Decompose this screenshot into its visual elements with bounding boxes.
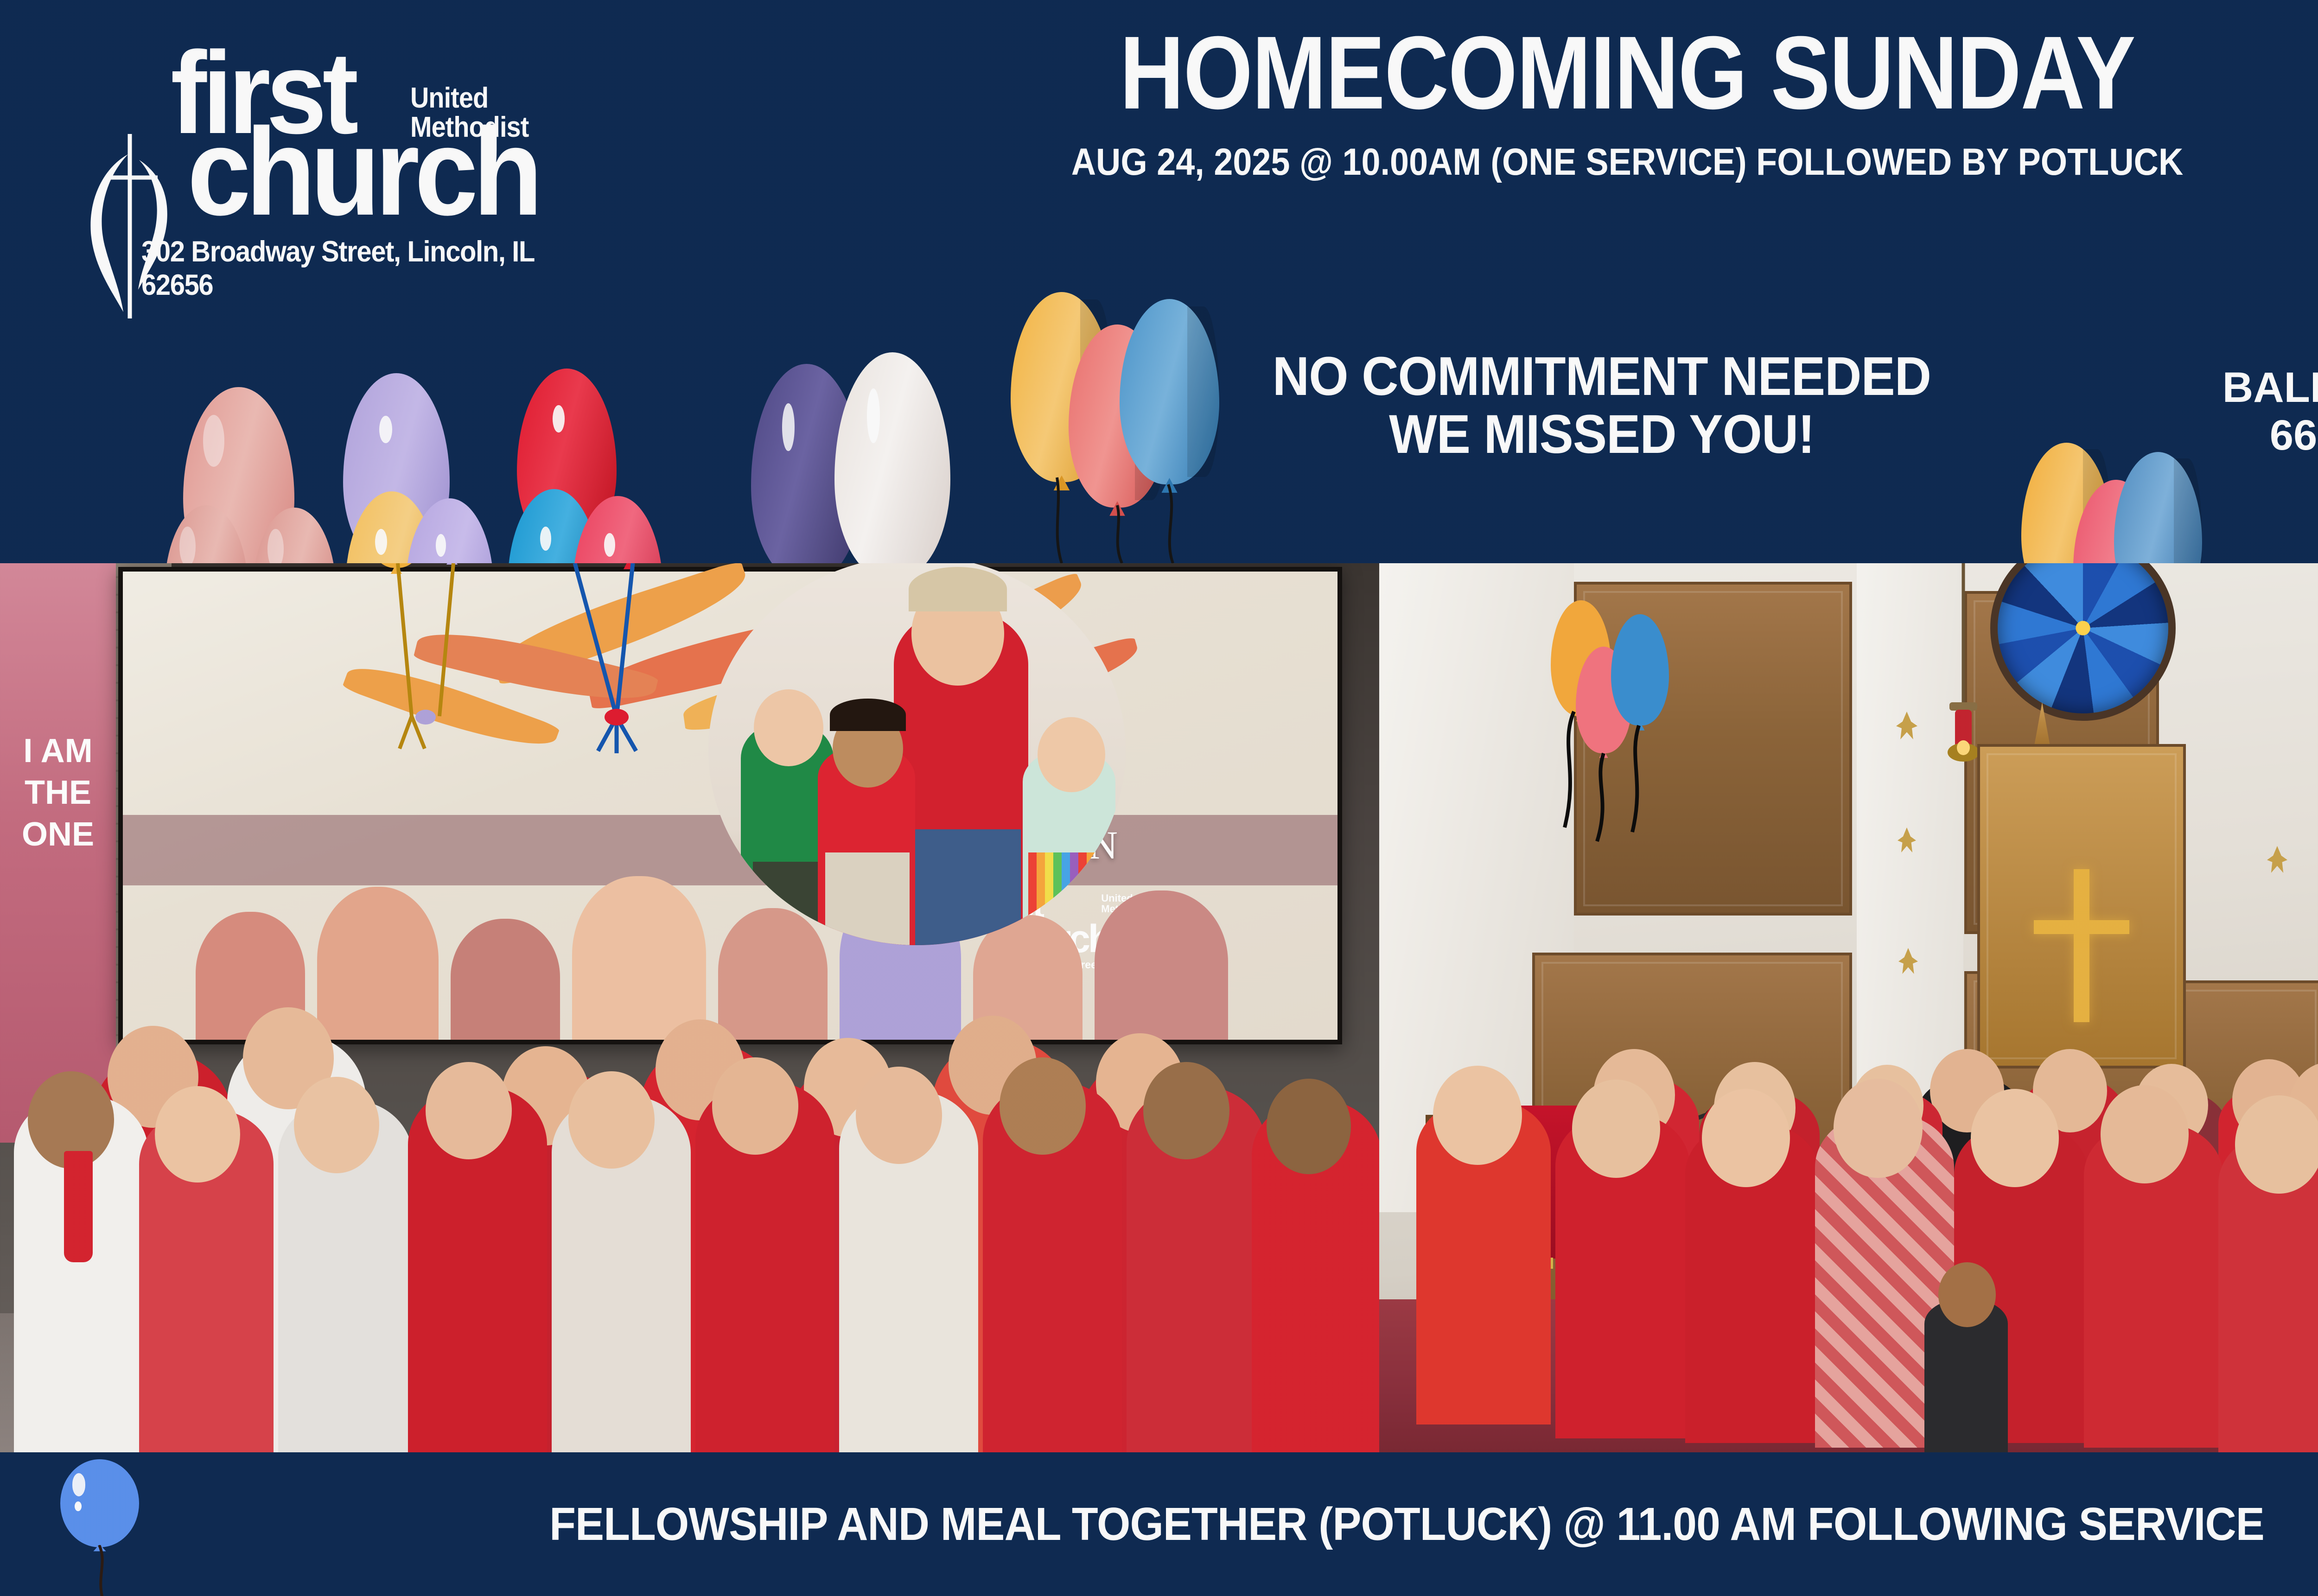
photo-sanctuary [1379, 563, 2318, 1452]
balloon-string [88, 1545, 125, 1596]
slogan-line-2: WE MISSED YOU! [1143, 406, 2061, 464]
event-details: AUG 24, 2025 @ 10.00AM (ONE SERVICE) FOL… [814, 143, 2318, 181]
wall-banner: I AM THE ONE [0, 563, 116, 1143]
header-band: first United Methodist church 302 Broadw… [0, 0, 2318, 563]
slogan-line-1: NO COMMITMENT NEEDED [1143, 348, 2061, 406]
logo-word-church: church [187, 118, 538, 225]
balloons-over-line-1: BALLOONS OVER [2146, 364, 2318, 412]
altar-cross-icon [2034, 920, 2129, 934]
balloon-salmon [253, 508, 336, 563]
footer-band: FELLOWSHIP AND MEAL TOGETHER (POTLUCK) @… [0, 1452, 2318, 1596]
photo-strip: I AM THE ONE *BENEDICTION first [0, 563, 2318, 1452]
balloons-over-66: BALLOONS OVER 66 WEEKEND [2146, 364, 2318, 459]
balloon-pink [573, 496, 663, 563]
inset-photo-kids [708, 563, 1126, 945]
page-title: HOMECOMING SUNDAY [850, 21, 2318, 125]
balloon-blue [1120, 299, 1219, 484]
balloon-light-blue [60, 1459, 139, 1547]
logo-address: 302 Broadway Street, Lincoln, IL 62656 [141, 235, 608, 302]
balloon-string [533, 563, 700, 758]
balloon-blue [2114, 452, 2202, 563]
balloon-string [1029, 473, 1242, 563]
balloon-string [1546, 702, 1694, 851]
homecoming-banner: first United Methodist church 302 Broadw… [0, 0, 2318, 1596]
altar-cross-icon [2074, 869, 2089, 1022]
headline-column: HOMECOMING SUNDAY AUG 24, 2025 @ 10.00AM… [723, 21, 2318, 181]
balloon-lavender [406, 498, 494, 563]
balloon-cream [834, 352, 950, 563]
slogan: NO COMMITMENT NEEDED WE MISSED YOU! [1143, 348, 2061, 464]
balloon-string [357, 563, 515, 758]
photo-fellowship-hall: I AM THE ONE *BENEDICTION first [0, 563, 1379, 1452]
balloon-salmon [165, 505, 248, 563]
footer-message: FELLOWSHIP AND MEAL TOGETHER (POTLUCK) @… [98, 1452, 2318, 1596]
church-logo: first United Methodist church 302 Broadw… [70, 35, 649, 331]
